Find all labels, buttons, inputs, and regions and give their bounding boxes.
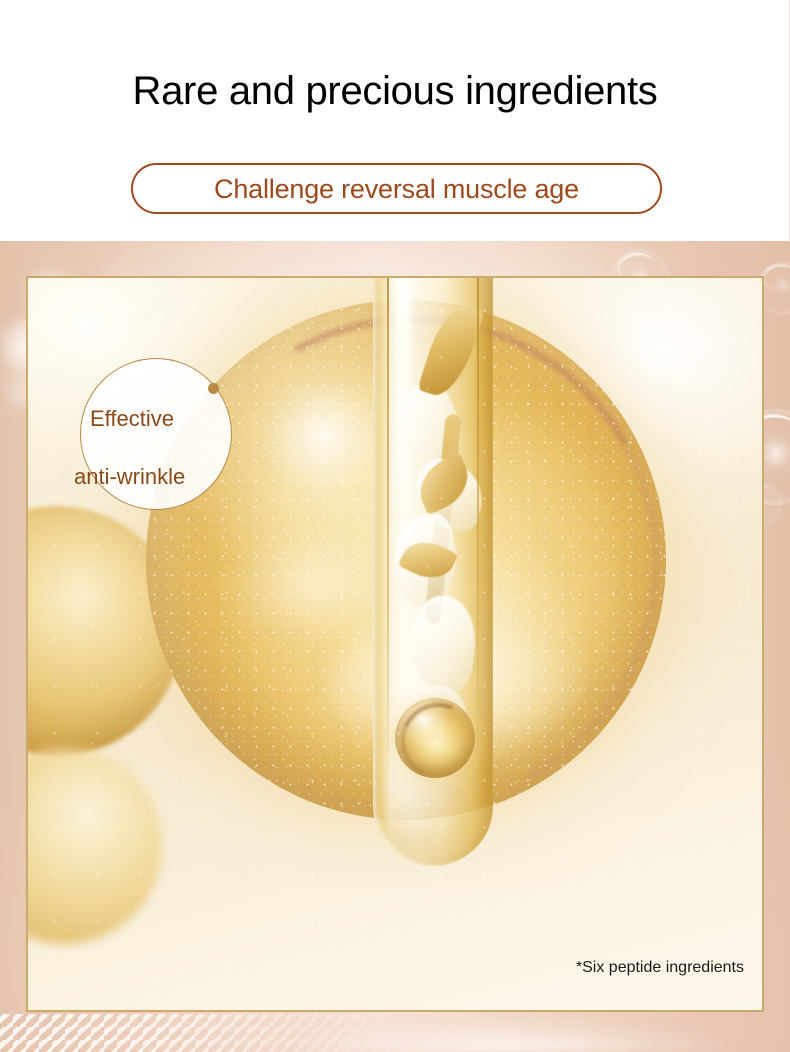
gold-droplet-sphere (395, 698, 475, 778)
subtitle-pill-label: Challenge reversal muscle age (214, 174, 579, 204)
photo-caption: *Six peptide ingredients (576, 958, 744, 978)
subtitle-pill-badge: Challenge reversal muscle age (131, 163, 662, 214)
white-petal (406, 593, 480, 695)
tube-wall-right (477, 276, 479, 786)
badge-label-line-1: Effective (90, 406, 174, 432)
tube-wall-left (387, 276, 389, 786)
dot-marker-icon (208, 383, 219, 394)
page-title: Rare and precious ingredients (0, 68, 790, 114)
product-photo: Effective anti-wrinkle *Six peptide ingr… (26, 276, 764, 1012)
test-tube (373, 276, 493, 866)
product-marketing-page: Rare and precious ingredients Challenge … (0, 0, 790, 1052)
header-band: Rare and precious ingredients Challenge … (0, 0, 790, 241)
badge-label-line-2: anti-wrinkle (74, 464, 185, 490)
gold-leaf (417, 298, 485, 402)
